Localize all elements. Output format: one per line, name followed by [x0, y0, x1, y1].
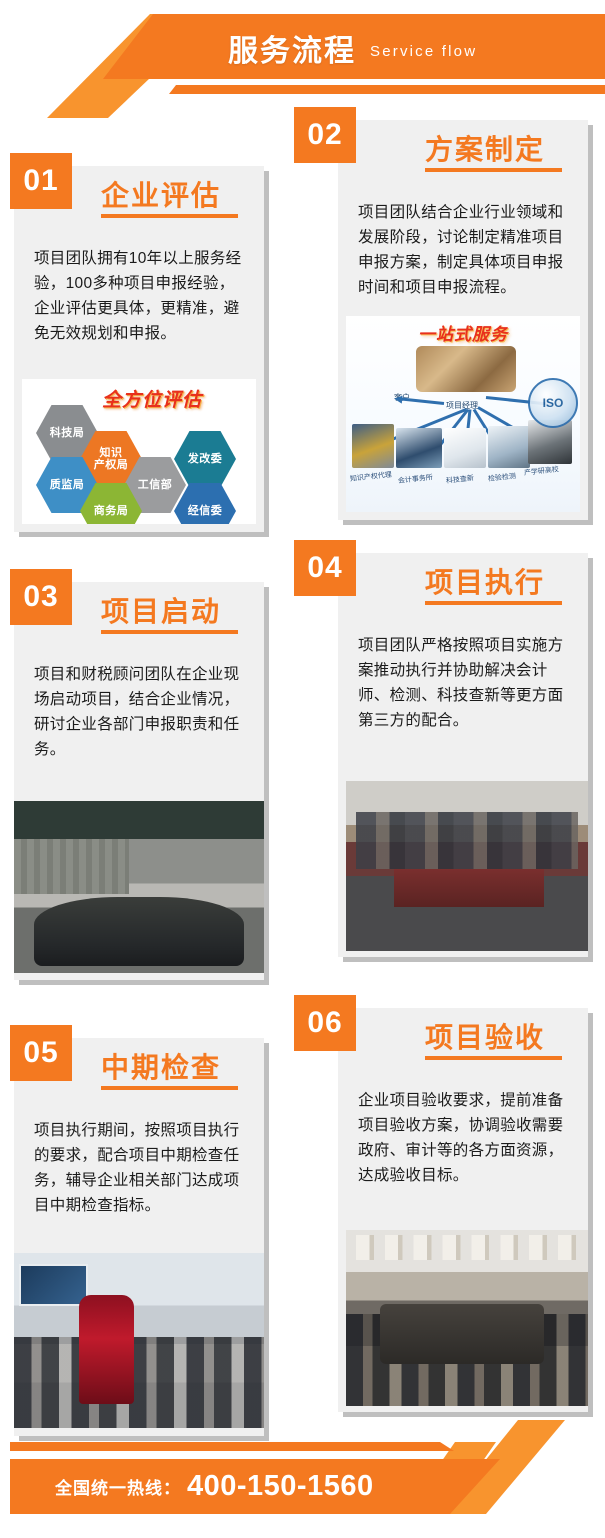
photo-working-session	[346, 781, 588, 951]
hex-label: 经信委	[188, 505, 223, 517]
hex-diagram-title: 全方位评估	[102, 385, 202, 412]
one-stop-title: 一站式服务	[346, 320, 580, 345]
photo-acceptance-meeting	[346, 1230, 588, 1406]
page-subtitle: Service flow	[370, 43, 477, 60]
card-02-media: 一站式服务 客户 项目经理 ISO 知识产权代理 会计事务所 科技查新 检验检测…	[346, 316, 580, 512]
card-06-media-photo	[346, 1230, 588, 1406]
card-04-media-photo	[346, 781, 588, 951]
one-stop-hero-photo	[416, 346, 516, 392]
card-02-title-rule	[425, 168, 562, 172]
card-02-description: 项目团队结合企业行业领域和发展阶段，讨论制定精准项目申报方案，制定具体项目申报时…	[358, 200, 570, 300]
photo-meeting-room	[14, 801, 264, 973]
photo-exhibition-visit	[14, 1253, 264, 1428]
hex-fagai-wei: 发改委	[174, 431, 236, 487]
card-04-description: 项目团队严格按照项目实施方案推动执行并协助解决会计师、检测、科技查新等更方面第三…	[358, 633, 570, 733]
card-04-title-rule	[425, 601, 562, 605]
hex-label: 质监局	[50, 479, 85, 491]
card-01[interactable]: 01 企业评估 项目团队拥有10年以上服务经验，100多种项目申报经验，企业评估…	[14, 166, 264, 532]
card-03-description: 项目和财税顾问团队在企业现场启动项目，结合企业情况，研讨企业各部门申报职责和任务…	[34, 662, 246, 762]
arrow-to-left	[400, 397, 444, 405]
hex-label: 知识产权局	[94, 447, 129, 472]
card-03-number: 03	[10, 569, 72, 625]
card-04-title: 项目执行	[425, 561, 545, 601]
photo-people-overlay	[346, 1314, 588, 1406]
page-header: 服务流程 Service flow	[0, 0, 605, 118]
hotline-label: 全国统一热线：	[55, 1474, 181, 1499]
one-stop-photo-ip	[352, 424, 394, 468]
card-01-media: 全方位评估 科技局 知识产权局 质监局 工信部 商务局 发改委 经信委	[22, 379, 256, 524]
card-04-number: 04	[294, 540, 356, 596]
card-03-title-rule	[101, 630, 238, 634]
card-02-number: 02	[294, 107, 356, 163]
card-06-title-rule	[425, 1056, 562, 1060]
hotline-number[interactable]: 400-150-1560	[187, 1470, 374, 1503]
card-06-description: 企业项目验收要求，提前准备项目验收方案，协调验收需要政府、审计等的各方面资源，达…	[358, 1088, 570, 1188]
page-title: 服务流程	[228, 26, 356, 70]
footer-hotline-group: 全国统一热线： 400-150-1560	[55, 1459, 374, 1514]
card-01-number: 01	[10, 153, 72, 209]
one-stop-seal-icon: ISO	[528, 378, 578, 428]
card-06[interactable]: 06 项目验收 企业项目验收要求，提前准备项目验收方案，协调验收需要政府、审计等…	[338, 1008, 588, 1412]
hex-label: 科技局	[50, 427, 85, 439]
one-stop-service-diagram: 一站式服务 客户 项目经理 ISO 知识产权代理 会计事务所 科技查新 检验检测…	[346, 316, 580, 512]
one-stop-label-testing: 检验检测	[487, 471, 516, 484]
page-footer: 全国统一热线： 400-150-1560	[0, 1420, 605, 1538]
card-01-title-rule	[101, 214, 238, 218]
one-stop-label-accounting: 会计事务所	[397, 472, 433, 486]
all-round-assessment-diagram: 全方位评估 科技局 知识产权局 质监局 工信部 商务局 发改委 经信委	[22, 379, 256, 524]
one-stop-photo-search	[444, 428, 486, 468]
header-wedge-decor-2	[0, 78, 230, 118]
card-05-title-rule	[101, 1086, 238, 1090]
card-05-description: 项目执行期间，按照项目执行的要求，配合项目中期检查任务，辅导企业相关部门达成项目…	[34, 1118, 246, 1218]
card-01-description: 项目团队拥有10年以上服务经验，100多种项目申报经验，企业评估更具体，更精准，…	[34, 246, 246, 346]
card-01-title: 企业评估	[101, 174, 221, 214]
header-title-group: 服务流程 Service flow	[0, 20, 605, 76]
card-03[interactable]: 03 项目启动 项目和财税顾问团队在企业现场启动项目，结合企业情况，研讨企业各部…	[14, 582, 264, 980]
card-05[interactable]: 05 中期检查 项目执行期间，按照项目执行的要求，配合项目中期检查任务，辅导企业…	[14, 1038, 264, 1436]
photo-people-overlay	[14, 1337, 264, 1428]
card-06-title: 项目验收	[425, 1016, 545, 1056]
card-03-media-photo	[14, 801, 264, 973]
card-02[interactable]: 02 方案制定 项目团队结合企业行业领域和发展阶段，讨论制定精准项目申报方案，制…	[338, 120, 588, 520]
one-stop-photo-testing	[488, 426, 530, 468]
one-stop-photo-accounting	[396, 428, 442, 468]
hex-label: 发改委	[188, 453, 223, 465]
one-stop-label-university: 产学研高校	[523, 464, 559, 478]
card-05-number: 05	[10, 1025, 72, 1081]
card-03-title: 项目启动	[101, 590, 221, 630]
card-06-number: 06	[294, 995, 356, 1051]
card-02-title: 方案制定	[425, 128, 545, 168]
card-05-media-photo	[14, 1253, 264, 1428]
card-04[interactable]: 04 项目执行 项目团队严格按照项目实施方案推动执行并协助解决会计师、检测、科技…	[338, 553, 588, 957]
card-05-title: 中期检查	[101, 1046, 221, 1086]
one-stop-label-search: 科技查新	[445, 473, 474, 486]
hex-label: 商务局	[94, 505, 129, 517]
one-stop-label-ip: 知识产权代理	[349, 470, 392, 484]
hex-label: 工信部	[138, 479, 173, 491]
